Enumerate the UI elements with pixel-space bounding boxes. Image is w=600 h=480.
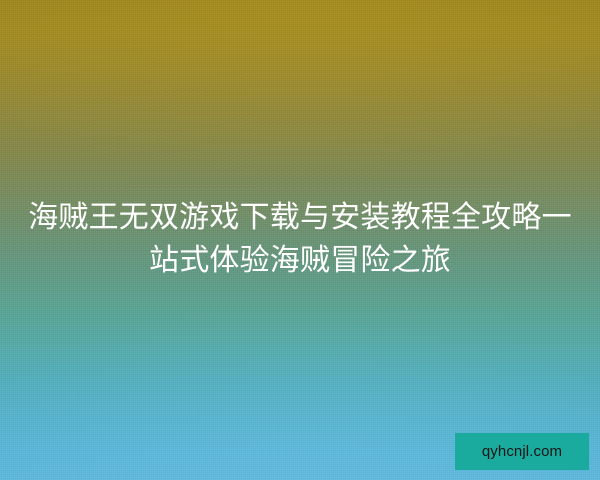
title-block: 海贼王无双游戏下载与安装教程全攻略一站式体验海贼冒险之旅 [0,196,600,282]
banner-title: 海贼王无双游戏下载与安装教程全攻略一站式体验海贼冒险之旅 [14,196,586,282]
banner-image: 海贼王无双游戏下载与安装教程全攻略一站式体验海贼冒险之旅 qyhcnjl.com [0,0,600,480]
watermark-domain-label: qyhcnjl.com [482,444,562,459]
watermark-badge: qyhcnjl.com [455,433,589,470]
